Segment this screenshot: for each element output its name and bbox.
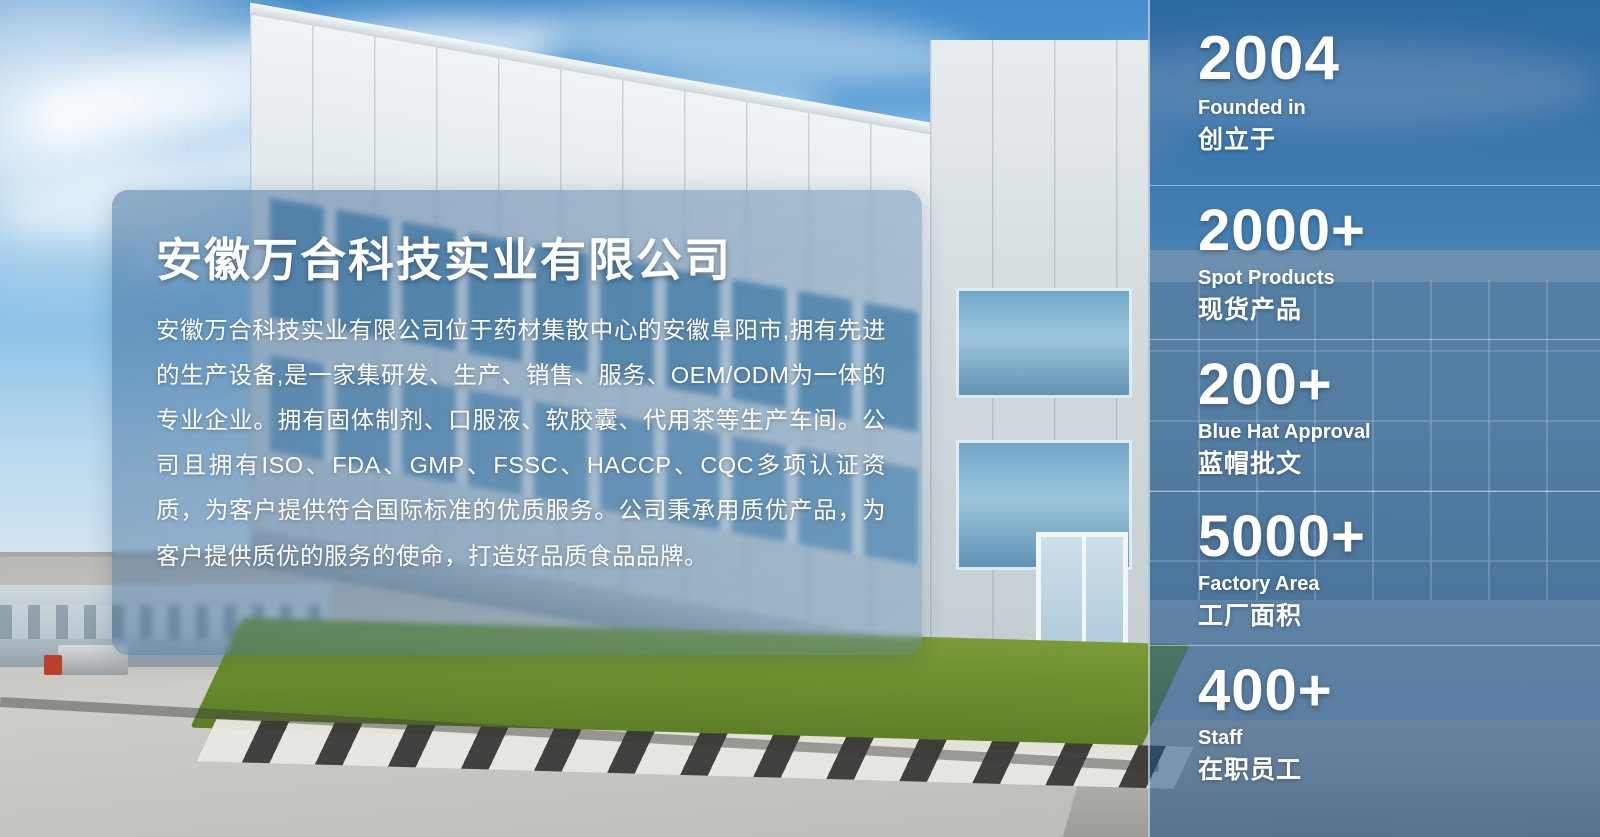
stat-label-cn: 在职员工 <box>1198 754 1600 787</box>
stat-label-en: Founded in <box>1198 95 1600 122</box>
stat-label-cn: 现货产品 <box>1198 294 1600 327</box>
stat-value: 2000+ <box>1198 200 1600 263</box>
stats-rail: 2004 Founded in 创立于 2000+ Spot Products … <box>1148 0 1600 837</box>
company-info-card: 安徽万合科技实业有限公司 安徽万合科技实业有限公司位于药材集散中心的安徽阜阳市,… <box>112 190 922 655</box>
stat-label-cn: 蓝帽批文 <box>1198 448 1600 481</box>
stat-value: 400+ <box>1198 660 1600 723</box>
stat-value: 5000+ <box>1198 506 1600 569</box>
stat-label-en: Staff <box>1198 725 1600 752</box>
stat-label-cn: 工厂面积 <box>1198 600 1600 633</box>
front-window-upper <box>956 288 1132 398</box>
stat-label-en: Factory Area <box>1198 571 1600 598</box>
stat-item-factory-area: 5000+ Factory Area 工厂面积 <box>1150 492 1600 646</box>
stat-label-cn: 创立于 <box>1198 124 1600 157</box>
stat-item-staff: 400+ Staff 在职员工 <box>1150 646 1600 837</box>
stat-label-en: Spot Products <box>1198 265 1600 292</box>
stat-value: 200+ <box>1198 354 1600 417</box>
stat-item-blue-hat-approval: 200+ Blue Hat Approval 蓝帽批文 <box>1150 340 1600 492</box>
stat-value: 2004 <box>1198 26 1600 93</box>
company-name-title: 安徽万合科技实业有限公司 <box>156 224 886 290</box>
stat-item-spot-products: 2000+ Spot Products 现货产品 <box>1150 186 1600 340</box>
hero-banner: 安徽万合科技实业有限公司 安徽万合科技实业有限公司位于药材集散中心的安徽阜阳市,… <box>0 0 1600 837</box>
stat-item-founded: 2004 Founded in 创立于 <box>1150 0 1600 186</box>
company-description-text: 安徽万合科技实业有限公司位于药材集散中心的安徽阜阳市,拥有先进的生产设备,是一家… <box>156 308 886 579</box>
stat-label-en: Blue Hat Approval <box>1198 419 1600 446</box>
